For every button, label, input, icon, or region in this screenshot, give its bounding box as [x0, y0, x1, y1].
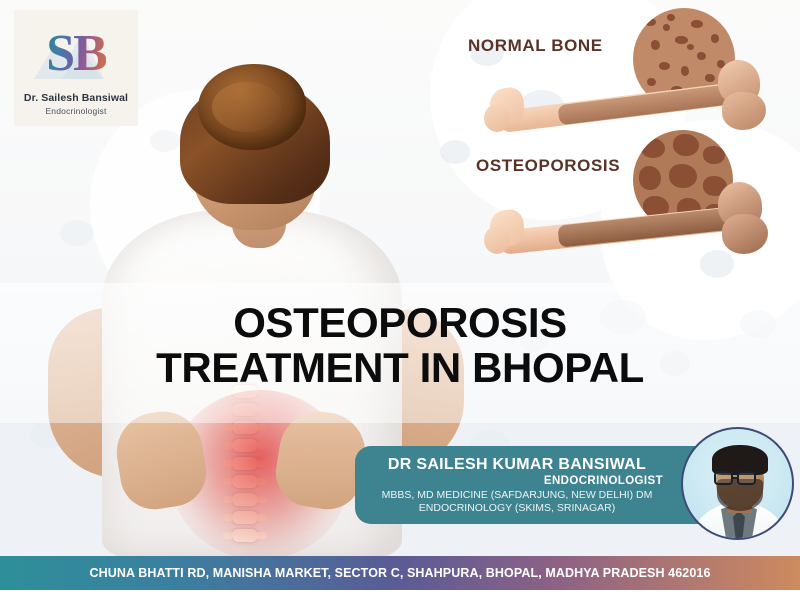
doctor-name: DR SAILESH KUMAR BANSIWAL	[388, 456, 646, 474]
page-title: OSTEOPOROSIS TREATMENT IN BHOPAL	[0, 300, 800, 391]
osteoporosis-bone-label: OSTEOPOROSIS	[476, 156, 620, 176]
poster-canvas: NORMAL BONE OSTEOPOROSIS	[0, 0, 800, 600]
logo-specialty: Endocrinologist	[45, 106, 106, 116]
clinic-logo[interactable]: SB Dr. Sailesh Bansiwal Endocrinologist	[14, 10, 138, 126]
doctor-portrait-avatar[interactable]	[681, 427, 794, 540]
title-line-1: OSTEOPOROSIS	[0, 300, 800, 345]
bone-comparison-panel: NORMAL BONE OSTEOPOROSIS	[440, 0, 800, 285]
doctor-specialty: ENDOCRINOLOGIST	[367, 475, 667, 487]
doctor-glasses-left-lens	[714, 471, 733, 485]
patient-hair-bun	[198, 64, 306, 150]
bottom-white-strip	[0, 590, 800, 600]
doctor-qualifications: MBBS, MD MEDICINE (SAFDARJUNG, NEW DELHI…	[382, 489, 653, 514]
title-line-2: TREATMENT IN BHOPAL	[0, 345, 800, 390]
qualification-line-2: ENDOCRINOLOGY (SKIMS, SRINAGAR)	[382, 502, 653, 514]
logo-doctor-name: Dr. Sailesh Bansiwal	[24, 92, 128, 104]
logo-monogram-mark: SB	[24, 21, 128, 87]
doctor-glasses-right-lens	[737, 471, 756, 485]
doctor-glasses-bridge	[733, 477, 739, 479]
logo-initials: SB	[46, 28, 106, 80]
normal-bone-label: NORMAL BONE	[468, 36, 603, 56]
clinic-address: CHUNA BHATTI RD, MANISHA MARKET, SECTOR …	[90, 566, 711, 580]
address-bar[interactable]: CHUNA BHATTI RD, MANISHA MARKET, SECTOR …	[0, 556, 800, 590]
qualification-line-1: MBBS, MD MEDICINE (SAFDARJUNG, NEW DELHI…	[382, 489, 653, 501]
